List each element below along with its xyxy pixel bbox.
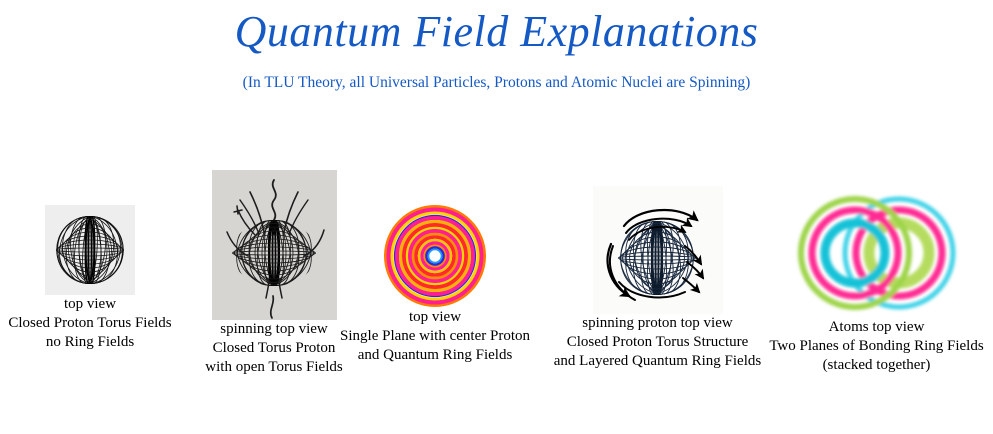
caption-line: spinning proton top view bbox=[540, 314, 775, 333]
caption-line: (stacked together) bbox=[760, 356, 993, 375]
spinning-closed-torus-proton-image bbox=[212, 170, 337, 320]
figure-caption: Atoms top view Two Planes of Bonding Rin… bbox=[760, 318, 993, 375]
caption-line: Two Planes of Bonding Ring Fields bbox=[760, 337, 993, 356]
figure-panel-single-plane-quantum-rings: top view Single Plane with center Proton… bbox=[340, 205, 530, 365]
atoms-bonding-ring-fields-image bbox=[763, 188, 991, 318]
caption-line: Single Plane with center Proton bbox=[340, 327, 530, 346]
spinning-torus-with-arrows-diagram bbox=[593, 186, 723, 314]
figure-caption: spinning proton top view Closed Proton T… bbox=[540, 314, 775, 371]
caption-line: spinning top view bbox=[185, 320, 363, 339]
caption-line: top view bbox=[340, 308, 530, 327]
caption-line: and Quantum Ring Fields bbox=[340, 346, 530, 365]
caption-line: and Layered Quantum Ring Fields bbox=[540, 352, 775, 371]
caption-line: with open Torus Fields bbox=[185, 358, 363, 377]
two-overlapping-atoms-diagram bbox=[763, 188, 991, 318]
figure-panel-atoms-bonding-ring-fields: Atoms top view Two Planes of Bonding Rin… bbox=[760, 188, 993, 375]
page-subtitle: (In TLU Theory, all Universal Particles,… bbox=[0, 74, 993, 92]
figure-panel-layered-quantum-ring-fields: spinning proton top view Closed Proton T… bbox=[540, 186, 775, 371]
caption-line: Atoms top view bbox=[760, 318, 993, 337]
figure-caption: top view Single Plane with center Proton… bbox=[340, 308, 530, 365]
figure-panel-spinning-closed-torus-proton: spinning top view Closed Torus Proton wi… bbox=[185, 170, 363, 377]
figure-caption: spinning top view Closed Torus Proton wi… bbox=[185, 320, 363, 377]
torus-mesh-diagram bbox=[45, 205, 135, 295]
caption-line: no Ring Fields bbox=[0, 333, 180, 352]
caption-line: top view bbox=[0, 295, 180, 314]
page-title: Quantum Field Explanations bbox=[0, 6, 993, 57]
concentric-ring-field-diagram bbox=[379, 205, 491, 308]
single-plane-quantum-rings-image bbox=[379, 205, 491, 308]
figure-panel-closed-proton-torus: top view Closed Proton Torus Fields no R… bbox=[0, 205, 180, 352]
caption-line: Closed Proton Torus Structure bbox=[540, 333, 775, 352]
caption-line: Closed Torus Proton bbox=[185, 339, 363, 358]
layered-quantum-ring-fields-image bbox=[593, 186, 723, 314]
caption-line: Closed Proton Torus Fields bbox=[0, 314, 180, 333]
closed-proton-torus-image bbox=[45, 205, 135, 295]
figure-caption: top view Closed Proton Torus Fields no R… bbox=[0, 295, 180, 352]
torus-with-open-fields-diagram bbox=[212, 170, 337, 320]
